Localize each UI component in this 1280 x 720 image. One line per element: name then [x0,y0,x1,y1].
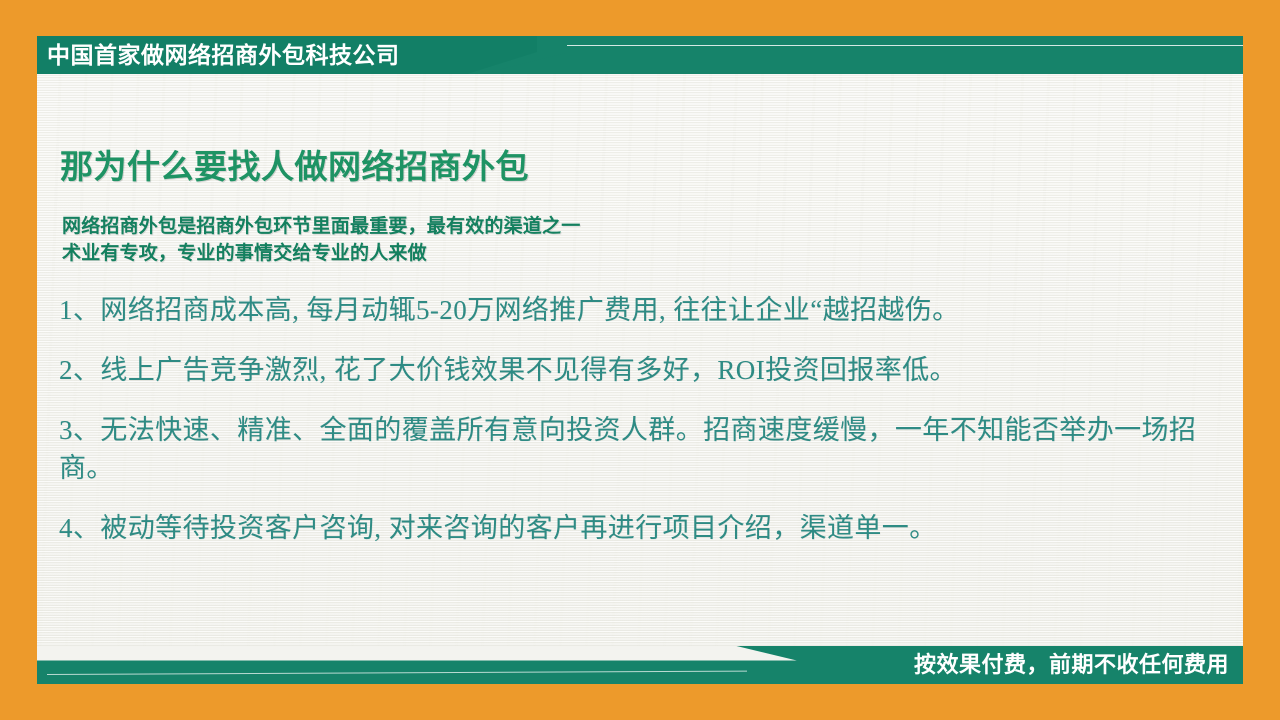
list-item: 2、线上广告竞争激烈, 花了大价钱效果不见得有多好，ROI投资回报率低。 [59,351,1225,389]
points-list: 1、网络招商成本高, 每月动辄5-20万网络推广费用, 往往让企业“越招越伤。 … [59,291,1225,569]
page-title: 那为什么要找人做网络招商外包 [60,140,529,188]
subtitle-line-1: 网络招商外包是招商外包环节里面最重要，最有效的渠道之一 [62,213,580,240]
subtitle-line-2: 术业有专攻，专业的事情交给专业的人来做 [62,240,580,267]
page-subtitle: 网络招商外包是招商外包环节里面最重要，最有效的渠道之一 术业有专攻，专业的事情交… [62,213,580,267]
list-item: 1、网络招商成本高, 每月动辄5-20万网络推广费用, 往往让企业“越招越伤。 [59,291,1225,329]
list-item: 3、无法快速、精准、全面的覆盖所有意向投资人群。招商速度缓慢，一年不知能否举办一… [59,411,1225,487]
footer-tagline: 按效果付费，前期不收任何费用 [914,646,1229,684]
footer-banner: 按效果付费，前期不收任何费用 [37,646,1243,684]
slide-canvas: 中国首家做网络招商外包科技公司 那为什么要找人做网络招商外包 网络招商外包是招商… [37,36,1243,684]
list-item: 4、被动等待投资客户咨询, 对来咨询的客户再进行项目介绍，渠道单一。 [59,509,1225,547]
header-title: 中国首家做网络招商外包科技公司 [47,36,400,74]
header-banner: 中国首家做网络招商外包科技公司 [37,36,1243,74]
